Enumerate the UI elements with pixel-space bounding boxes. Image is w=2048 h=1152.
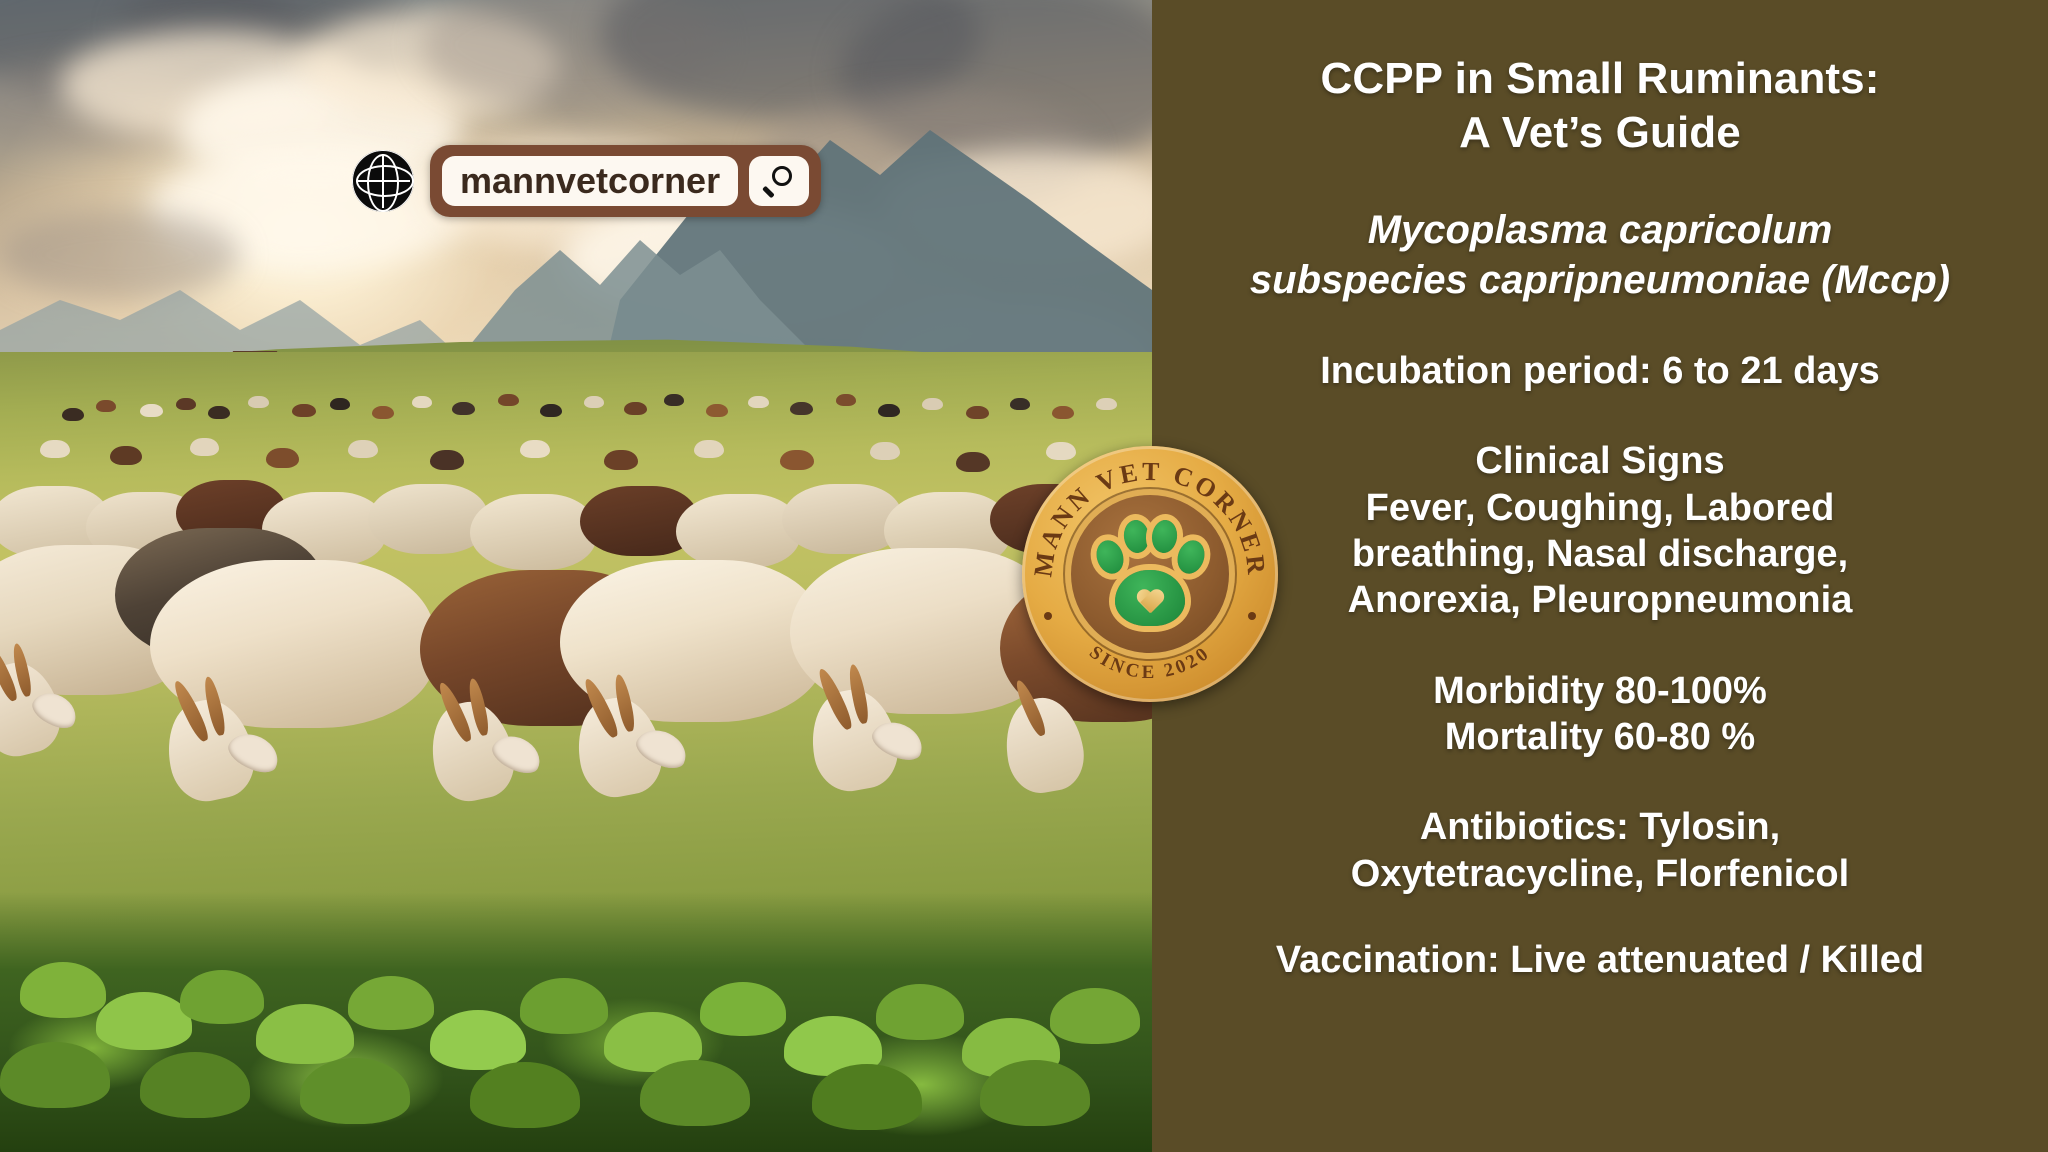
- globe-icon: [352, 150, 414, 212]
- incubation-period: Incubation period: 6 to 21 days: [1176, 349, 2024, 395]
- clinical-signs-line-2: breathing, Nasal discharge,: [1176, 531, 2024, 577]
- search-overlay[interactable]: mannvetcorner: [352, 145, 821, 217]
- background-photo: mannvetcorner: [0, 0, 1152, 1152]
- mortality-rate: Mortality 60-80 %: [1176, 714, 2024, 760]
- search-input[interactable]: mannvetcorner: [442, 156, 738, 206]
- clinical-signs-list: Fever, Coughing, Labored breathing, Nasa…: [1176, 485, 2024, 624]
- magnifier-icon: [764, 166, 794, 196]
- clinical-signs-heading: Clinical Signs: [1176, 439, 2024, 485]
- scientific-name: Mycoplasma capricolum subspecies capripn…: [1176, 205, 2024, 305]
- scientific-name-line-2: subspecies capripneumoniae (Mccp): [1176, 255, 2024, 305]
- rates-block: Morbidity 80-100% Mortality 60-80 %: [1176, 668, 2024, 761]
- title-line-2: A Vet’s Guide: [1176, 106, 2024, 160]
- paw-print-icon: [1091, 514, 1209, 632]
- paw-pad: [1115, 570, 1185, 626]
- search-button[interactable]: [749, 156, 809, 206]
- heart-icon: [1136, 590, 1164, 616]
- antibiotics-line-2: Oxytetracycline, Florfenicol: [1176, 851, 2024, 897]
- info-panel: CCPP in Small Ruminants: A Vet’s Guide M…: [1152, 0, 2048, 1152]
- antibiotics-line-1: Antibiotics: Tylosin,: [1176, 804, 2024, 850]
- badge-dot-right: [1248, 612, 1256, 620]
- search-bar[interactable]: mannvetcorner: [430, 145, 821, 217]
- foreground-foliage: [0, 892, 1152, 1152]
- page-title: CCPP in Small Ruminants: A Vet’s Guide: [1176, 52, 2024, 159]
- clinical-signs-line-1: Fever, Coughing, Labored: [1176, 485, 2024, 531]
- scientific-name-line-1: Mycoplasma capricolum: [1176, 205, 2024, 255]
- antibiotics-block: Antibiotics: Tylosin, Oxytetracycline, F…: [1176, 804, 2024, 897]
- logo-badge: MANN VET CORNER SINCE 2020: [1022, 446, 1278, 702]
- clinical-signs-line-3: Anorexia, Pleuropneumonia: [1176, 577, 2024, 623]
- title-line-1: CCPP in Small Ruminants:: [1176, 52, 2024, 106]
- poster-canvas: mannvetcorner MANN VET CORNER SINCE 2020: [0, 0, 2048, 1152]
- morbidity-rate: Morbidity 80-100%: [1176, 668, 2024, 714]
- vaccination-line: Vaccination: Live attenuated / Killed: [1176, 937, 2024, 983]
- badge-dot-left: [1044, 612, 1052, 620]
